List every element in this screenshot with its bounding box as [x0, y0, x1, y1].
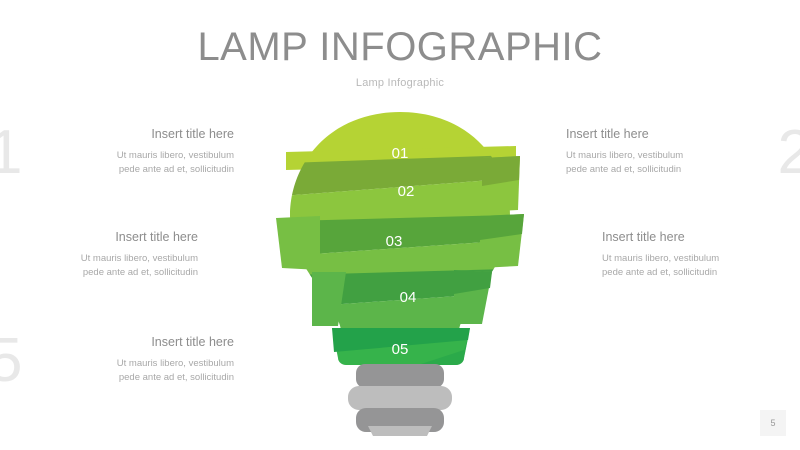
page-title: LAMP INFOGRAPHIC: [0, 24, 800, 70]
band-02-label: 02: [398, 183, 415, 200]
info-block-3[interactable]: 3 Insert title here Ut mauris libero, ve…: [0, 229, 198, 280]
block-body-4: Ut mauris libero, vestibulum pede ante a…: [602, 252, 800, 280]
slide-canvas: LAMP INFOGRAPHIC Lamp Infographic 1 Inse…: [0, 0, 800, 450]
block-body-line-2: pede ante ad et, sollicitudin: [26, 371, 234, 385]
block-body-line-2: pede ante ad et, sollicitudin: [602, 266, 800, 280]
lamp-band-03[interactable]: 03: [268, 214, 532, 278]
header: LAMP INFOGRAPHIC Lamp Infographic: [0, 24, 800, 89]
lamp-svg: 01 02: [268, 106, 532, 436]
base-thread-4: [368, 426, 432, 436]
lamp-bulb-graphic: 01 02: [268, 106, 532, 436]
block-body-5: Ut mauris libero, vestibulum pede ante a…: [26, 357, 234, 385]
block-title-3: Insert title here: [0, 229, 198, 245]
block-title-5: Insert title here: [26, 334, 234, 350]
block-body-1: Ut mauris libero, vestibulum pede ante a…: [26, 149, 234, 177]
lamp-band-02[interactable]: 02: [268, 154, 532, 224]
info-block-4[interactable]: 4 Insert title here Ut mauris libero, ve…: [602, 229, 800, 280]
block-body-3: Ut mauris libero, vestibulum pede ante a…: [0, 252, 198, 280]
page-subtitle: Lamp Infographic: [0, 77, 800, 89]
block-number-1: 1: [0, 122, 22, 184]
block-body-line-1: Ut mauris libero, vestibulum: [26, 149, 234, 163]
band-04-label: 04: [400, 289, 417, 306]
block-body-line-1: Ut mauris libero, vestibulum: [566, 149, 774, 163]
lamp-band-05[interactable]: 05: [332, 328, 470, 365]
block-number-2: 2: [778, 122, 800, 184]
lamp-base: [348, 364, 452, 436]
base-thread-2: [348, 386, 452, 410]
info-block-5[interactable]: 5 Insert title here Ut mauris libero, ve…: [26, 334, 234, 385]
block-body-2: Ut mauris libero, vestibulum pede ante a…: [566, 149, 774, 177]
page-number-badge: 5: [760, 410, 786, 436]
block-body-line-2: pede ante ad et, sollicitudin: [26, 163, 234, 177]
block-body-line-1: Ut mauris libero, vestibulum: [0, 252, 198, 266]
info-block-2[interactable]: 2 Insert title here Ut mauris libero, ve…: [566, 126, 774, 177]
band-03-ribbon-left: [276, 216, 320, 270]
band-05-label: 05: [392, 341, 409, 358]
block-title-1: Insert title here: [26, 126, 234, 142]
block-body-line-1: Ut mauris libero, vestibulum: [602, 252, 800, 266]
lamp-band-04[interactable]: 04: [268, 268, 532, 330]
base-thread-1: [356, 364, 444, 388]
info-block-1[interactable]: 1 Insert title here Ut mauris libero, ve…: [26, 126, 234, 177]
block-number-5: 5: [0, 330, 22, 392]
block-body-line-2: pede ante ad et, sollicitudin: [0, 266, 198, 280]
band-03-label: 03: [386, 233, 403, 250]
block-body-line-1: Ut mauris libero, vestibulum: [26, 357, 234, 371]
block-title-2: Insert title here: [566, 126, 774, 142]
block-title-4: Insert title here: [602, 229, 800, 245]
block-body-line-2: pede ante ad et, sollicitudin: [566, 163, 774, 177]
